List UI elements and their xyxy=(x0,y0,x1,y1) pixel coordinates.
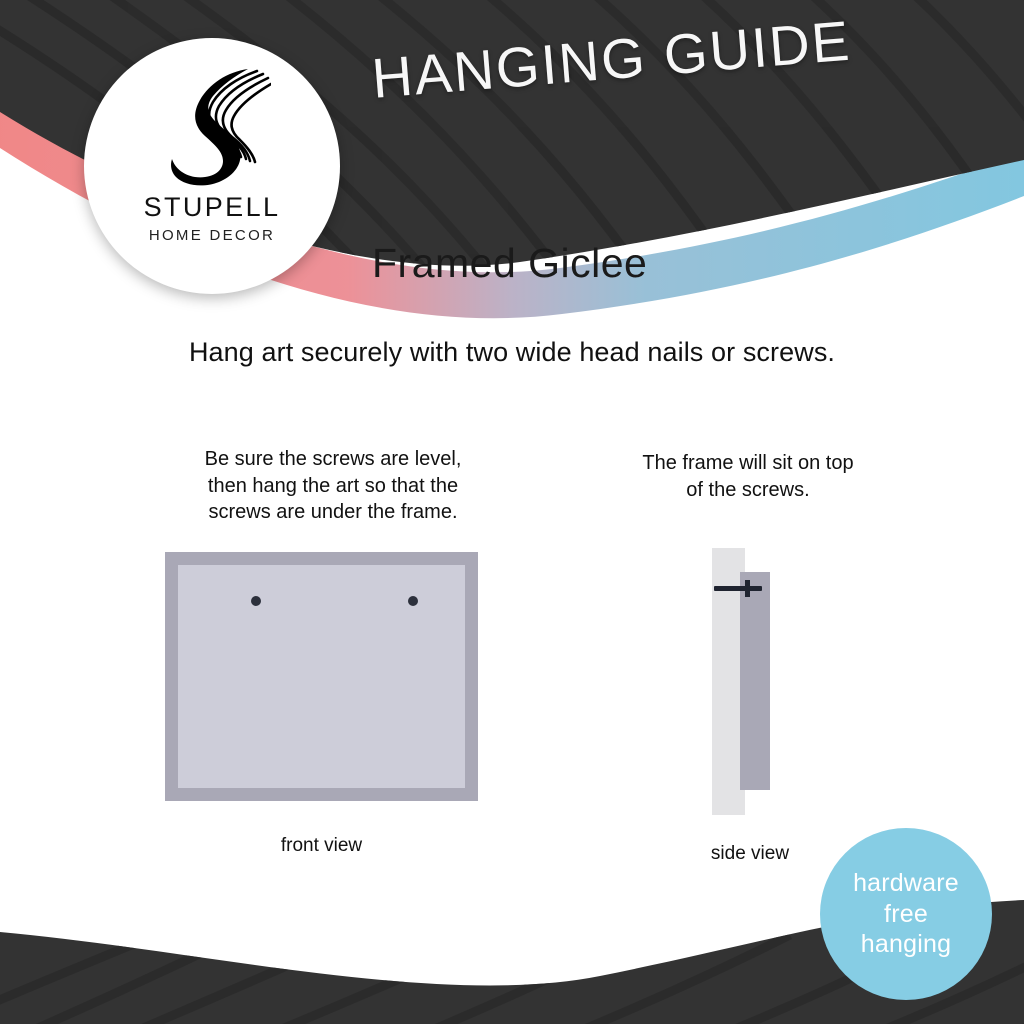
side-view-caption: The frame will sit on top of the screws. xyxy=(598,450,898,503)
main-instruction-text: Hang art securely with two wide head nai… xyxy=(0,337,1024,368)
front-caption-line-1: Be sure the screws are level, xyxy=(155,446,511,473)
badge-line-2: free xyxy=(884,899,928,930)
screw-head-icon xyxy=(745,580,750,597)
hanging-guide-infographic: STUPELL HOME DECOR HANGING GUIDE Framed … xyxy=(0,0,1024,1024)
front-caption-line-2: then hang the art so that the xyxy=(155,473,511,500)
front-view-frame-diagram xyxy=(165,552,478,801)
side-view-frame-diagram xyxy=(700,540,800,825)
badge-line-1: hardware xyxy=(853,868,959,899)
logo-tagline: HOME DECOR xyxy=(149,228,275,243)
screw-shaft-icon xyxy=(714,586,762,591)
screw-dot-left-icon xyxy=(251,596,261,606)
stupell-s-swoosh-icon xyxy=(153,62,271,188)
front-caption-line-3: screws are under the frame. xyxy=(155,499,511,526)
front-view-label: front view xyxy=(165,835,478,857)
hardware-free-hanging-badge: hardware free hanging xyxy=(820,828,992,1000)
frame-art-panel xyxy=(178,565,465,788)
page-title: HANGING GUIDE xyxy=(369,8,853,111)
screw-dot-right-icon xyxy=(408,596,418,606)
front-view-caption: Be sure the screws are level, then hang … xyxy=(155,446,511,526)
side-view-label: side view xyxy=(660,843,840,865)
product-type-title: Framed Giclee xyxy=(372,240,647,287)
frame-strip xyxy=(740,572,770,790)
brand-logo-badge: STUPELL HOME DECOR xyxy=(84,38,340,294)
side-caption-line-2: of the screws. xyxy=(598,477,898,504)
logo-wordmark: STUPELL xyxy=(144,194,281,221)
badge-line-3: hanging xyxy=(861,929,951,960)
side-caption-line-1: The frame will sit on top xyxy=(598,450,898,477)
